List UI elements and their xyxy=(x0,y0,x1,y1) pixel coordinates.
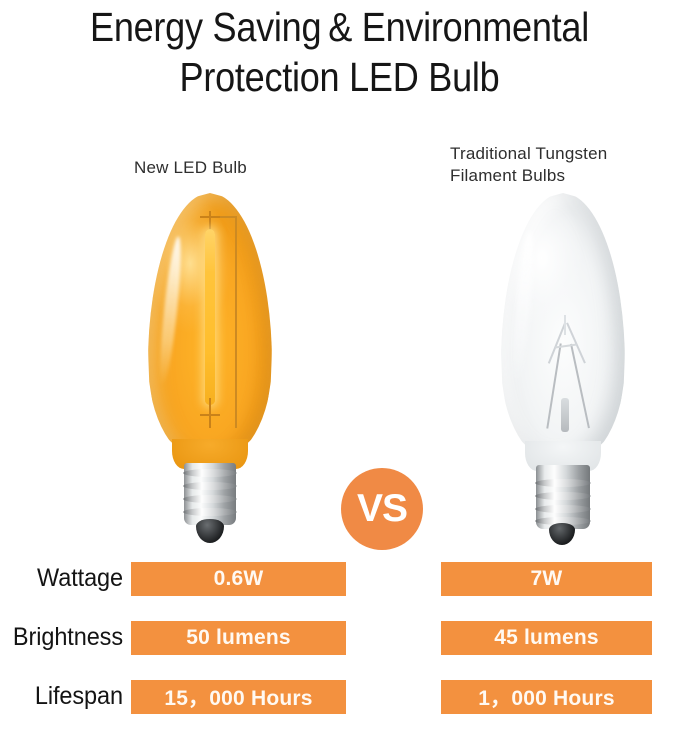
tungsten-caption-line-2: Filament Bulbs xyxy=(450,165,607,187)
led-base-contact-tip xyxy=(196,519,224,543)
title-line-1: Energy Saving & Environmental xyxy=(90,4,589,50)
spec-comparison-table: Wattage 0.6W 7W Brightness 50 lumens 45 … xyxy=(0,556,679,733)
tungsten-screw-base xyxy=(536,465,590,529)
led-bulb-image xyxy=(148,193,272,538)
spec-label-wattage: Wattage xyxy=(7,563,123,593)
led-caption-text: New LED Bulb xyxy=(134,158,247,177)
spec-row-lifespan: Lifespan 15，000 Hours 1，000 Hours xyxy=(0,674,679,733)
spec-value-led-lifespan: 15，000 Hours xyxy=(131,680,346,714)
led-lead-cap-top xyxy=(200,216,220,218)
led-filament-stick xyxy=(205,229,215,405)
led-lead-cap-bottom xyxy=(200,414,220,416)
led-column-caption: New LED Bulb xyxy=(134,157,247,179)
led-screw-base xyxy=(184,463,236,525)
tungsten-base-contact-tip xyxy=(549,523,575,545)
led-support-post xyxy=(235,216,237,428)
spec-value-tungsten-lifespan: 1，000 Hours xyxy=(441,680,652,714)
spec-label-lifespan: Lifespan xyxy=(7,681,123,711)
spec-label-brightness: Brightness xyxy=(7,622,123,652)
bulb-comparison-stage: VS xyxy=(0,185,679,550)
spec-value-tungsten-wattage: 7W xyxy=(441,562,652,596)
tungsten-filament-peak xyxy=(564,315,566,335)
spec-value-led-wattage: 0.6W xyxy=(131,562,346,596)
tungsten-filament-stem xyxy=(561,398,569,432)
tungsten-column-caption: Traditional Tungsten Filament Bulbs xyxy=(450,143,607,187)
vs-badge: VS xyxy=(341,468,423,550)
title-line-2: Protection LED Bulb xyxy=(41,52,639,102)
tungsten-bulb-image xyxy=(501,193,625,538)
spec-row-brightness: Brightness 50 lumens 45 lumens xyxy=(0,615,679,674)
led-lead-wire-bottom xyxy=(209,398,211,428)
spec-value-led-brightness: 50 lumens xyxy=(131,621,346,655)
vs-badge-label: VS xyxy=(357,487,407,531)
tungsten-caption-line-1: Traditional Tungsten xyxy=(450,143,607,165)
spec-value-tungsten-brightness: 45 lumens xyxy=(441,621,652,655)
spec-row-wattage: Wattage 0.6W 7W xyxy=(0,556,679,615)
page-title: Energy Saving & Environmental Protection… xyxy=(41,2,639,102)
